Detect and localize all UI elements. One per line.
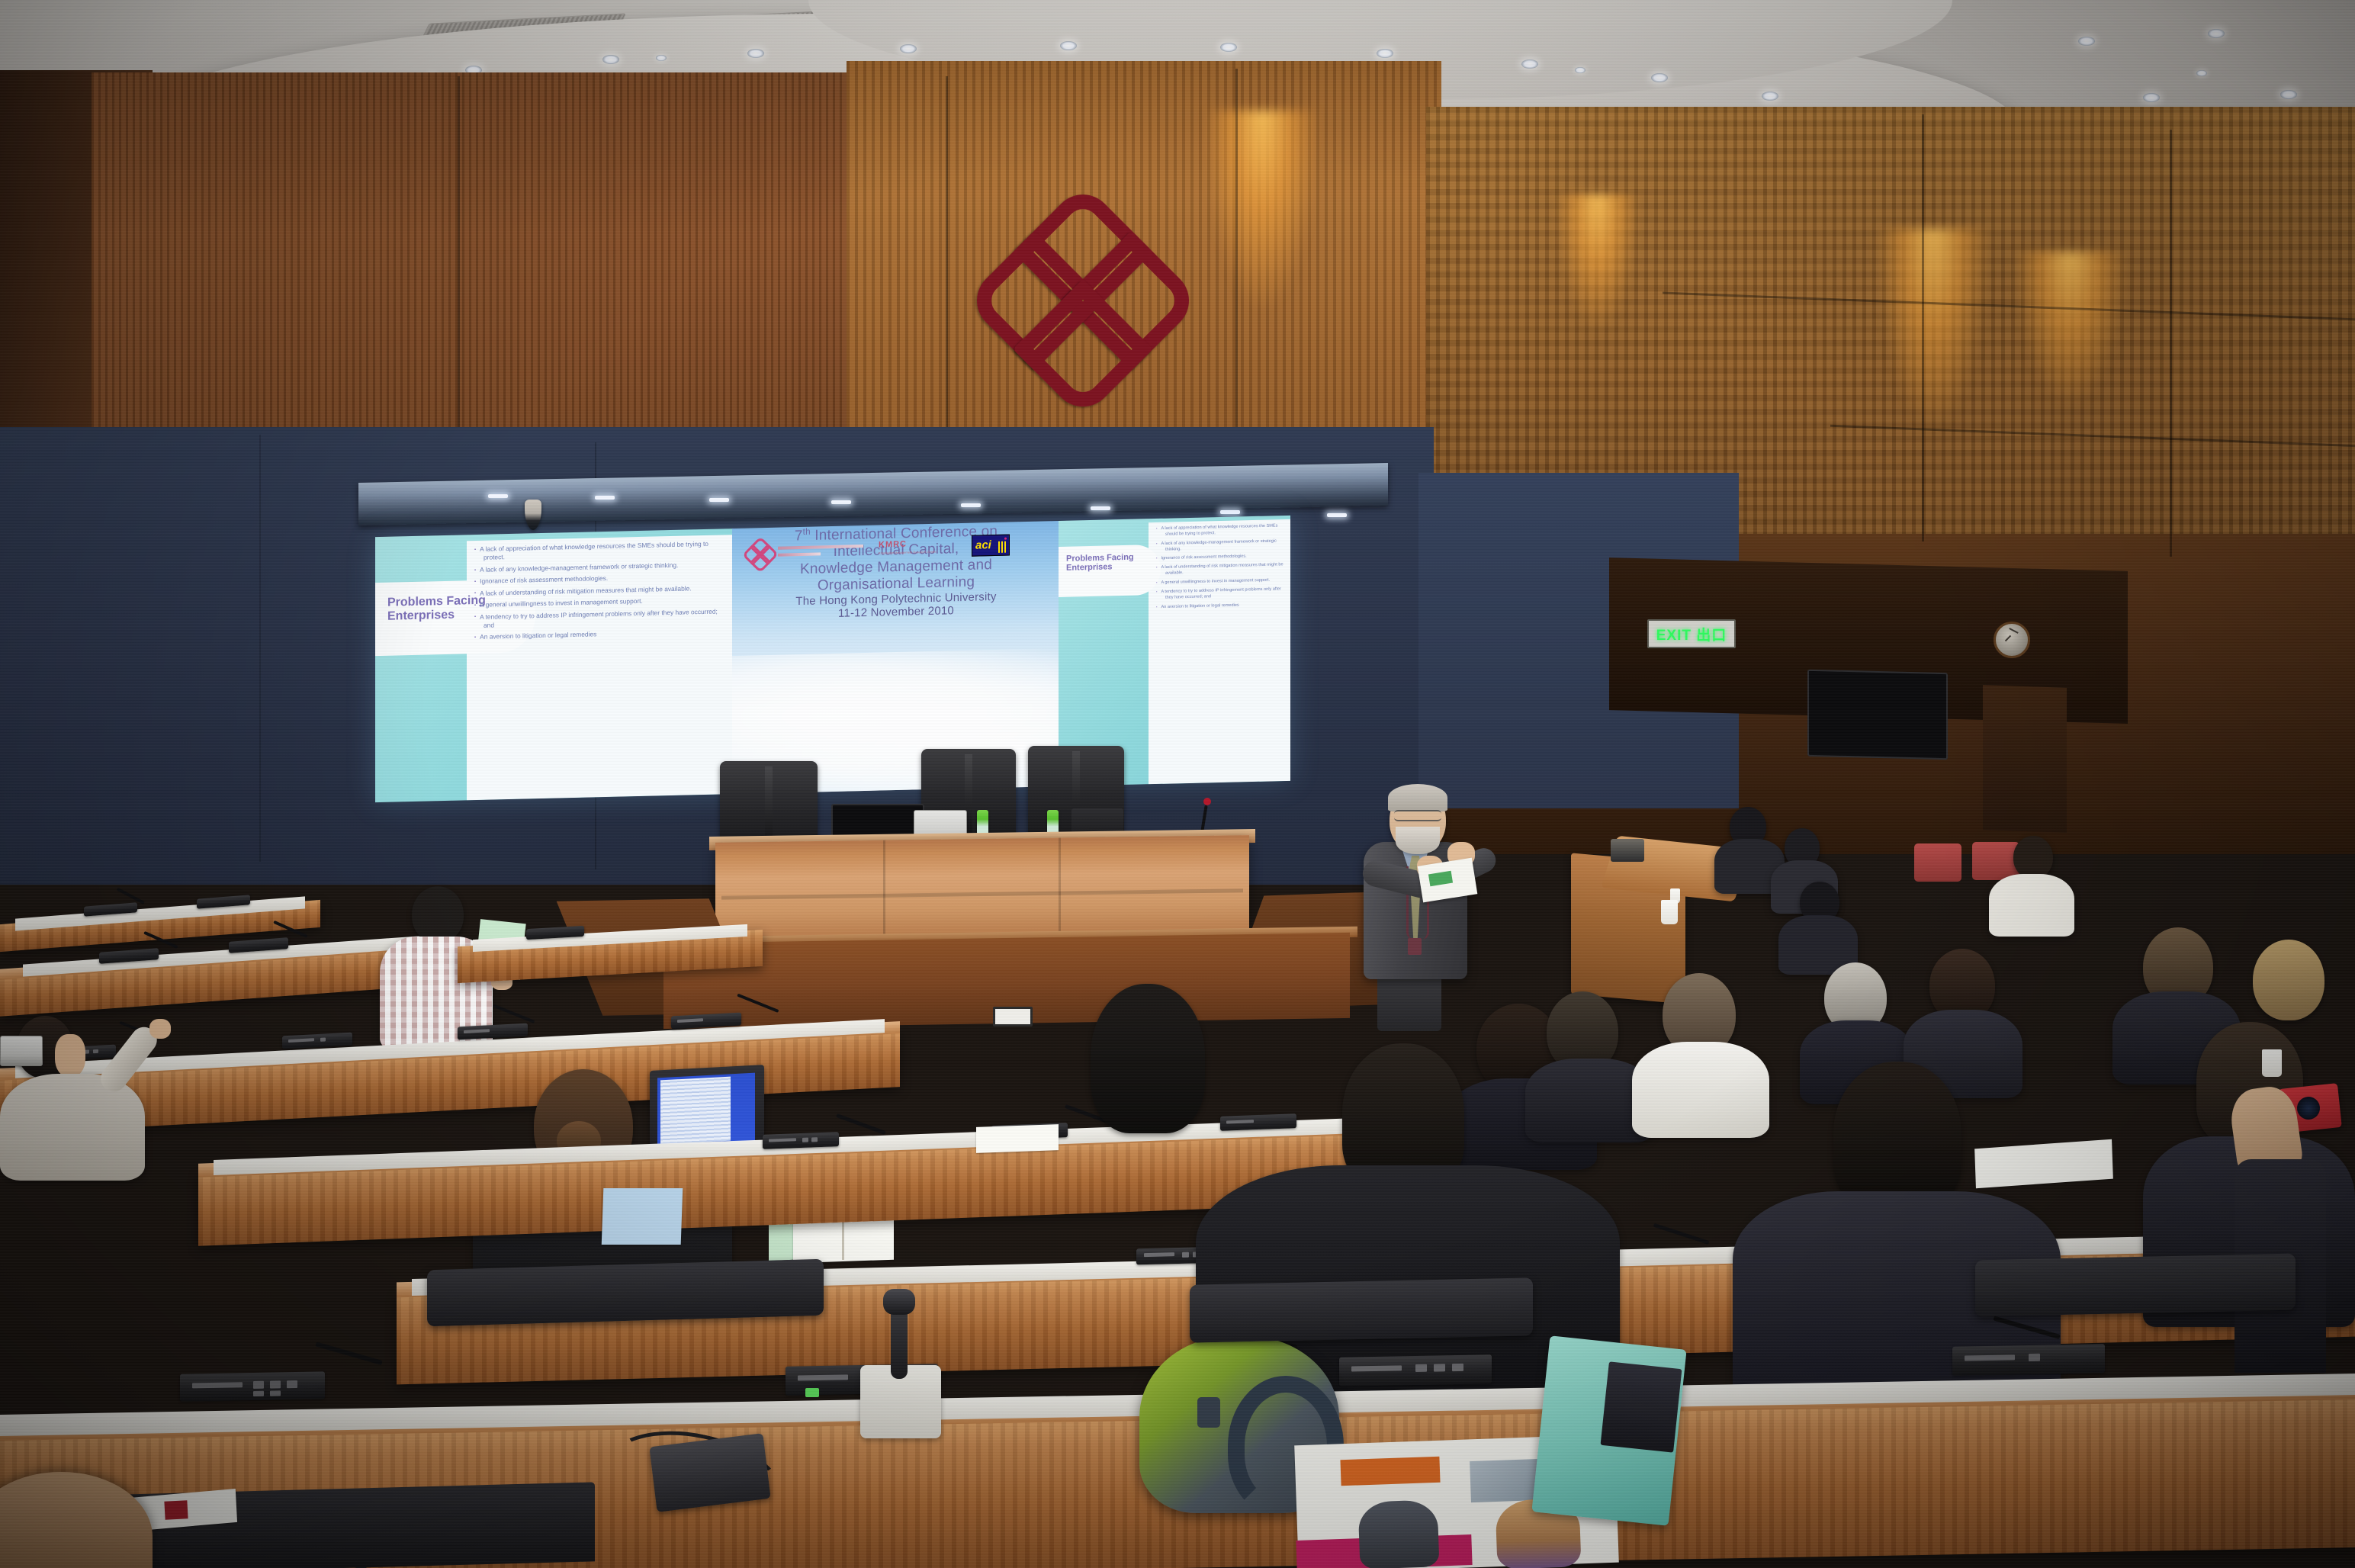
downlight <box>2143 93 2160 102</box>
slide-right-title: Problems Facing Enterprises <box>1066 552 1159 574</box>
downlight <box>1060 41 1077 50</box>
device-box <box>649 1433 770 1512</box>
pelmet-light <box>709 498 729 502</box>
pelmet-light <box>961 503 981 507</box>
aci-logo: aci <box>972 535 1010 557</box>
desk-card-logo <box>164 1500 188 1520</box>
conference-microphone-unit <box>1220 1113 1296 1131</box>
wall-wash-light <box>1876 229 1990 427</box>
pelmet-light <box>1327 513 1347 517</box>
conference-microphone-unit <box>458 1023 528 1040</box>
desk-paper <box>1974 1139 2113 1188</box>
gooseneck-microphone <box>493 1004 535 1023</box>
pelmet-light <box>488 494 508 498</box>
conference-microphone-unit <box>180 1371 325 1401</box>
presenter-glasses <box>1394 810 1441 821</box>
aci-logo-label: aci <box>975 538 991 551</box>
projection-screen: Problems Facing Enterprises A lack of ap… <box>375 516 1290 802</box>
lecture-hall-photo: EXIT 出口 Problems Facing Enterprises A la… <box>0 0 2355 1568</box>
wall-blue-seam <box>259 435 261 862</box>
conference-microphone-unit <box>763 1132 839 1149</box>
audience-body <box>1989 874 2074 937</box>
backpack-buckle <box>1197 1397 1220 1428</box>
downlight <box>2208 29 2225 38</box>
microphone-stem <box>891 1306 908 1379</box>
pelmet-light <box>831 500 851 504</box>
laptop-document <box>660 1077 731 1145</box>
slide-left-bullets: A lack of appreciation of what knowledge… <box>473 539 724 645</box>
conference-microphone-unit <box>1339 1354 1492 1386</box>
audience-head <box>1091 984 1205 1133</box>
downlight <box>1762 92 1778 101</box>
pelmet-light <box>1220 510 1240 514</box>
exit-sign: EXIT 出口 <box>1647 619 1736 648</box>
pelmet-light <box>1091 506 1110 510</box>
presenter-hair <box>1388 784 1447 811</box>
newspaper-masthead <box>1340 1457 1440 1486</box>
downlight <box>1521 59 1538 69</box>
audience-head <box>2013 836 2053 879</box>
wall-wash-light <box>1556 194 1640 332</box>
microphone-head <box>883 1289 915 1315</box>
wall-clock <box>1994 622 2030 658</box>
gooseneck-microphone <box>117 888 145 904</box>
pelmet-light <box>595 496 615 500</box>
downlight-small <box>1575 67 1586 73</box>
presenter <box>1350 776 1518 1028</box>
kmrc-subtext: Knowledge Management Research Centre <box>879 549 962 555</box>
wall-wash-light <box>1205 111 1319 309</box>
audience-face <box>55 1034 85 1077</box>
audience-body <box>0 1074 145 1181</box>
paper-cup <box>1661 900 1678 924</box>
polyu-wordmark <box>778 545 863 550</box>
audience-hand <box>149 1019 171 1039</box>
downlight <box>1220 43 1237 52</box>
chair-back <box>1975 1254 2296 1317</box>
door-panel <box>1983 685 2067 833</box>
audience-head <box>2253 940 2324 1020</box>
mic-indicator-led <box>805 1388 819 1397</box>
chair-back <box>1190 1277 1533 1342</box>
gooseneck-microphone <box>836 1113 886 1135</box>
wall-wash-light <box>2013 252 2128 404</box>
gooseneck-microphone <box>315 1341 382 1365</box>
audience-head <box>412 886 464 943</box>
audience-head <box>1833 1062 1961 1211</box>
wall-monitor <box>1807 670 1948 760</box>
panel-seam <box>1922 114 1924 541</box>
downlight <box>2078 37 2095 46</box>
downlight <box>900 44 917 53</box>
polyu-wordmark-cn <box>778 552 821 556</box>
downlight <box>747 49 764 58</box>
folder-contents <box>1601 1361 1682 1452</box>
exit-sign-label: EXIT 出口 <box>1656 624 1727 644</box>
slide-left-partial: Problems Facing Enterprises A lack of ap… <box>375 529 734 802</box>
downlight <box>602 55 619 64</box>
audience-body <box>1632 1042 1769 1138</box>
downlight <box>1651 73 1668 82</box>
blue-booklet <box>602 1188 683 1245</box>
downlight-small <box>2196 70 2207 76</box>
name-badge <box>1408 938 1422 955</box>
lectern-equipment <box>1611 839 1644 862</box>
gooseneck-microphone <box>1653 1223 1710 1245</box>
spare-chair-red <box>1914 843 1961 882</box>
chair-back <box>427 1259 824 1327</box>
downlight <box>1377 49 1393 58</box>
newspaper-model-photo <box>1357 1499 1439 1568</box>
desk-paper <box>976 1124 1059 1153</box>
conference-microphone-unit <box>1952 1344 2105 1375</box>
conference-microphone-unit <box>282 1033 352 1049</box>
panel-seam <box>2170 130 2172 557</box>
microphone-head <box>1203 798 1211 805</box>
slide-right-bullets: A lack of appreciation of what knowledge… <box>1155 523 1290 614</box>
downlight-small <box>656 55 667 61</box>
paper-cup <box>2262 1049 2282 1077</box>
kmrc-logo: KMRC <box>879 540 907 550</box>
downlight <box>2280 90 2297 99</box>
audience-laptop <box>0 1036 43 1066</box>
panel-desk-shelf <box>721 888 1243 900</box>
presenter-beard <box>1396 827 1440 854</box>
power-outlet <box>993 1007 1033 1027</box>
